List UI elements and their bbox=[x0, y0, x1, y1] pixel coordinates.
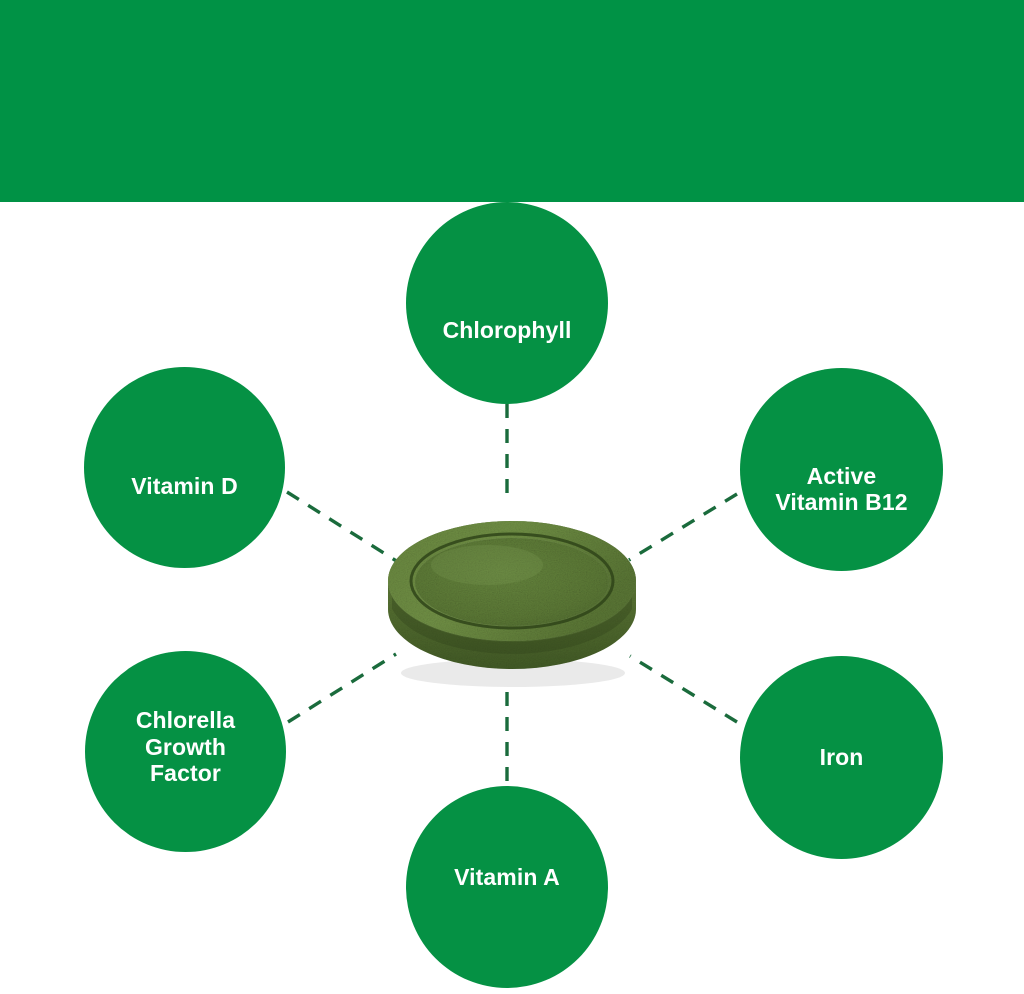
connector-vitamin-d bbox=[287, 492, 398, 562]
bubble-vitamin-b12-label: Active Vitamin B12 bbox=[763, 463, 919, 516]
chlorella-tablet bbox=[383, 497, 641, 693]
bubble-vitamin-a-label: Vitamin A bbox=[442, 864, 572, 891]
bubble-iron[interactable]: Iron bbox=[740, 656, 943, 859]
tablet-highlight bbox=[431, 545, 543, 585]
bubble-cgf-line3: Factor bbox=[150, 760, 221, 786]
infographic-root: One of the most digestible chlorella bra… bbox=[0, 0, 1024, 994]
bubble-vitamin-b12-line1: Active bbox=[807, 463, 877, 489]
bubble-cgf-line1: Chlorella bbox=[136, 707, 235, 733]
header-band bbox=[0, 0, 1024, 202]
bubble-cgf-line2: Growth bbox=[145, 734, 226, 760]
bubble-vitamin-a[interactable]: Vitamin A bbox=[406, 786, 608, 988]
bubble-iron-label: Iron bbox=[808, 744, 876, 771]
connector-vitamin-b12 bbox=[629, 494, 737, 560]
bubble-vitamin-b12[interactable]: Active Vitamin B12 bbox=[740, 368, 943, 571]
bubble-vitamin-b12-line2: Vitamin B12 bbox=[775, 489, 907, 515]
connector-iron bbox=[630, 656, 737, 722]
bubble-vitamin-d-label: Vitamin D bbox=[119, 473, 250, 500]
connector-cgf bbox=[288, 654, 396, 722]
bubble-chlorophyll[interactable]: Chlorophyll bbox=[406, 202, 608, 404]
bubble-vitamin-d[interactable]: Vitamin D bbox=[84, 367, 285, 568]
bubble-chlorella-growth-factor[interactable]: Chlorella Growth Factor bbox=[85, 651, 286, 852]
bubble-chlorella-growth-factor-label: Chlorella Growth Factor bbox=[124, 707, 247, 787]
bubble-chlorophyll-label: Chlorophyll bbox=[431, 317, 584, 344]
